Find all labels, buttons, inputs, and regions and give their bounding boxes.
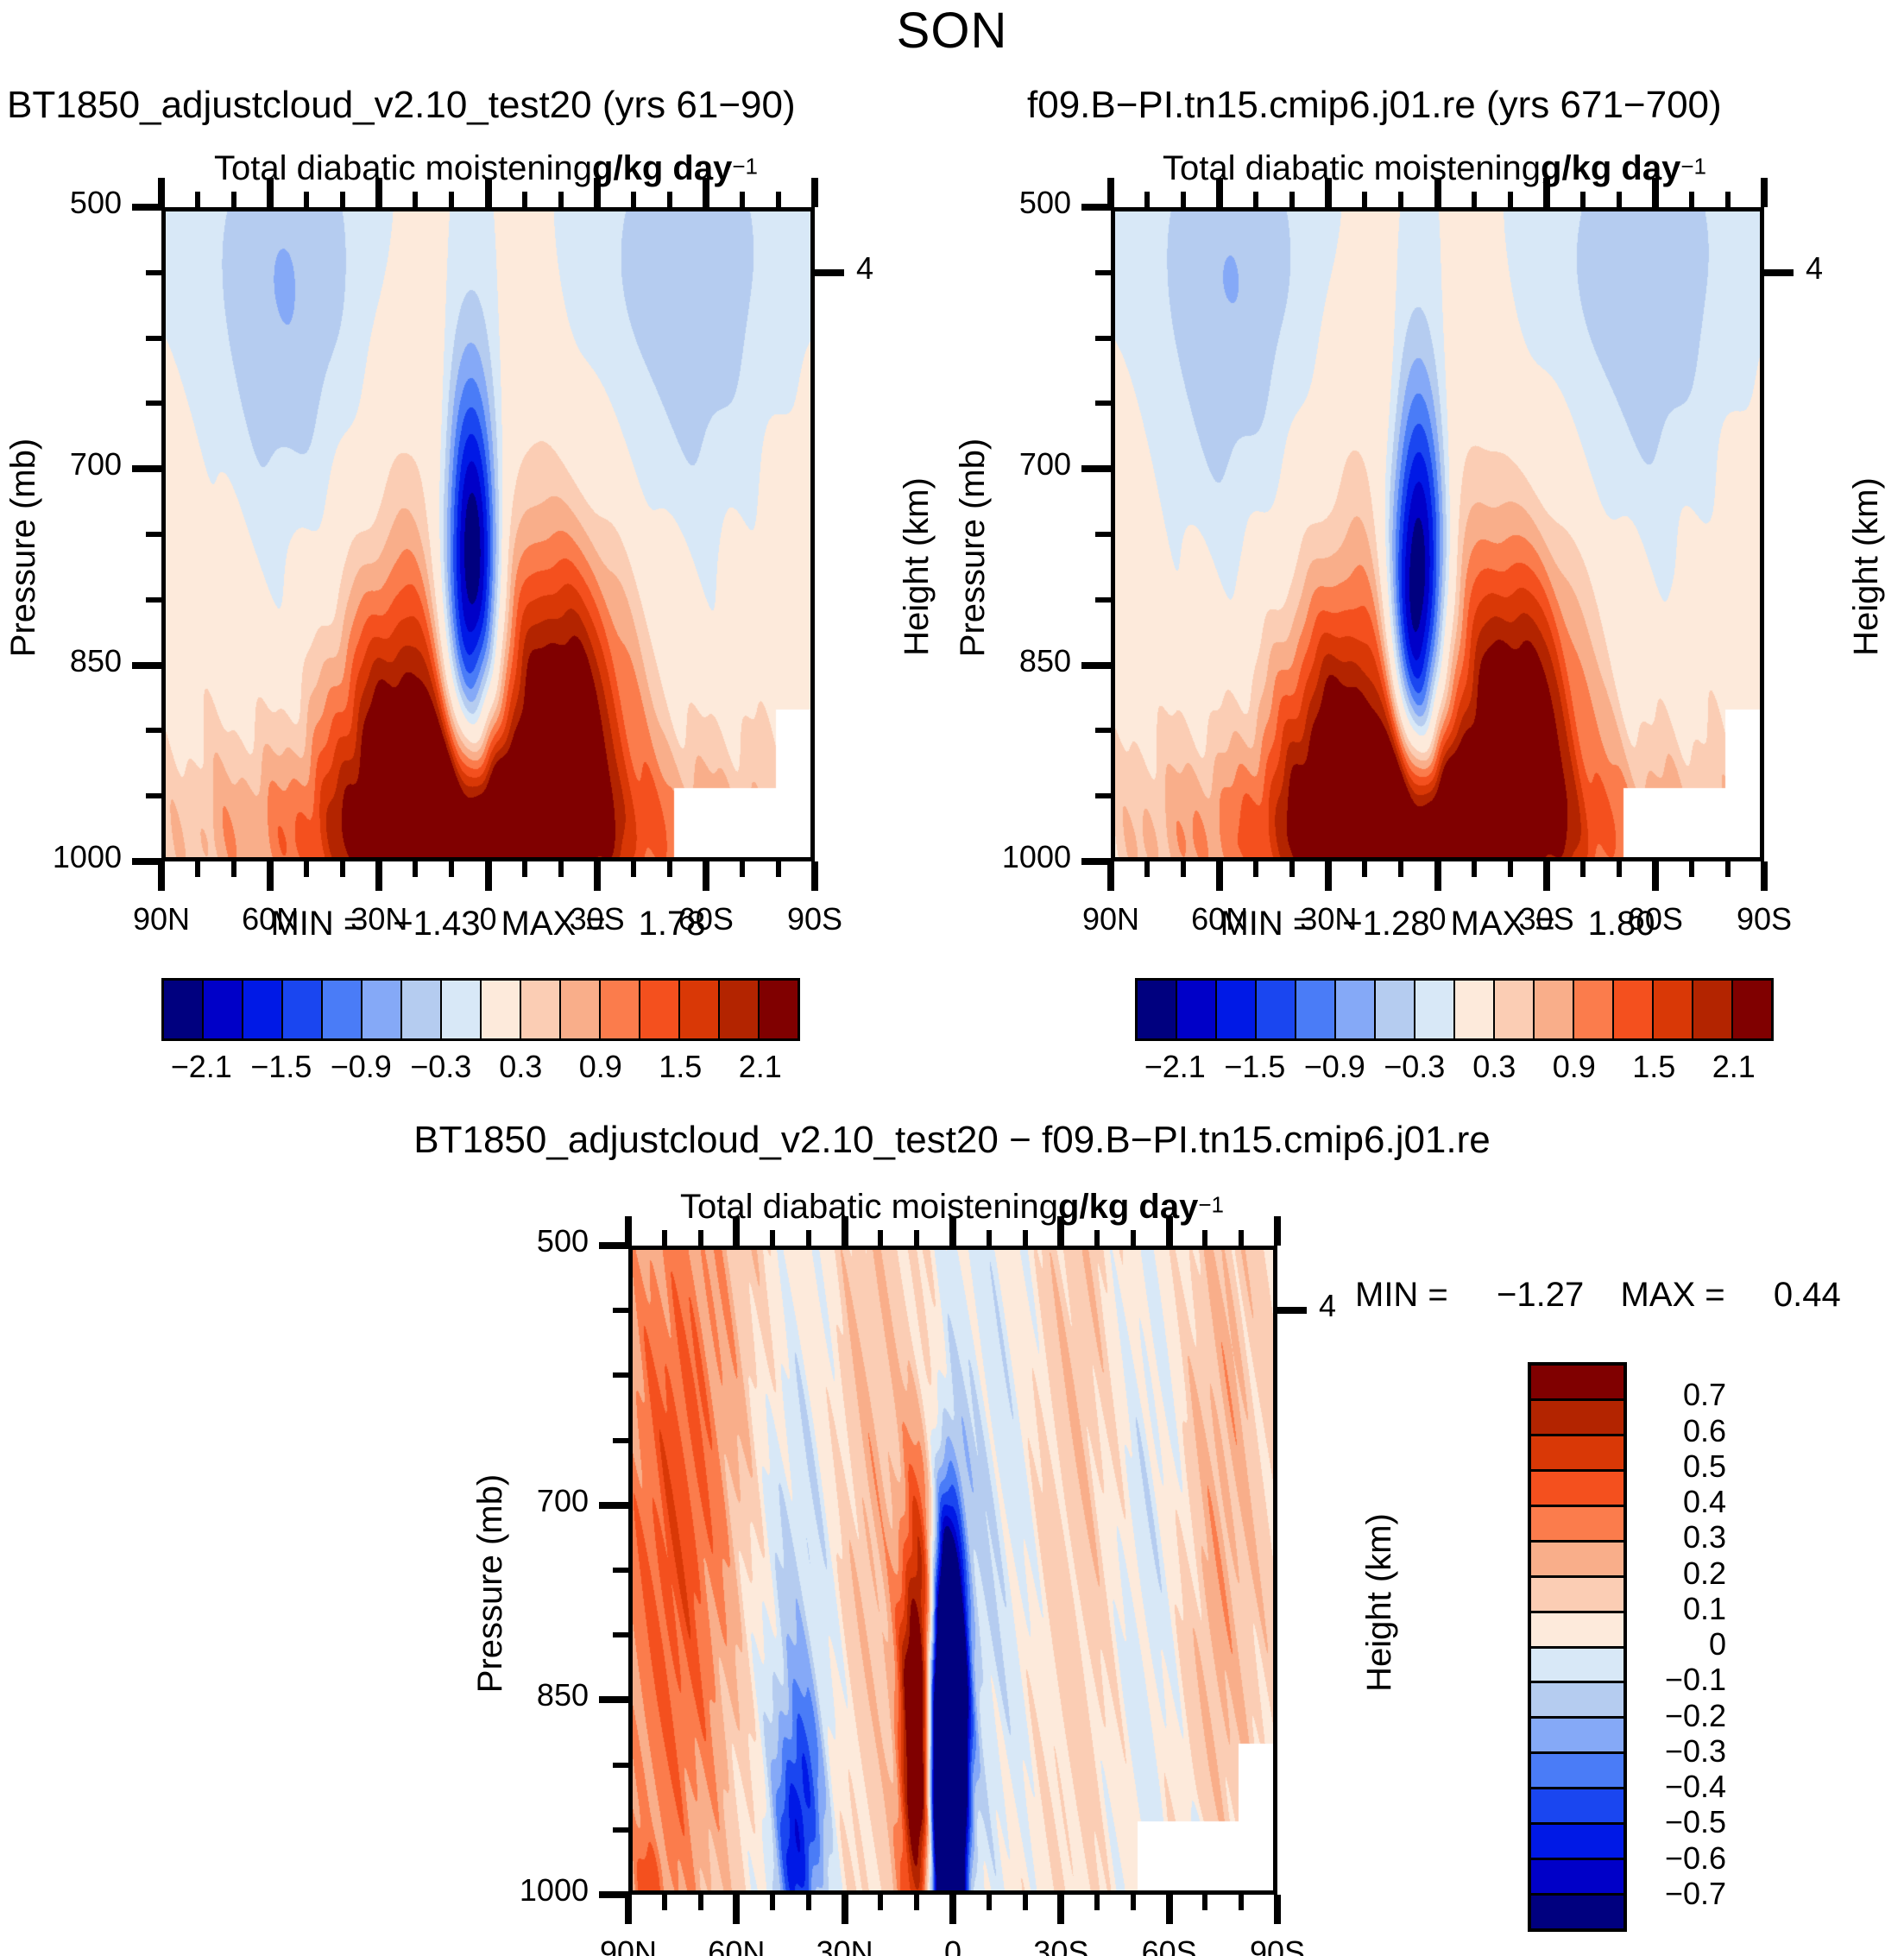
left-x-top-minor-tick [231, 192, 236, 207]
diff-x-major-tick [625, 1895, 632, 1924]
right-x-top-minor-tick [1689, 192, 1694, 207]
colorbar-tick-label: −0.5 [1649, 1804, 1726, 1840]
right-x-top-major-tick [1325, 178, 1332, 207]
left-x-top-minor-tick [631, 192, 636, 207]
left-x-minor-tick [667, 861, 672, 877]
diff-x-major-tick [1274, 1895, 1281, 1924]
colorbar-tick-label: 1.5 [1632, 1049, 1675, 1085]
colorbar-tick-label: 2.1 [739, 1049, 782, 1085]
diff-y-minor-tick [613, 1827, 628, 1833]
left-y-tick-label: 700 [70, 446, 122, 483]
left-x-tick-label: 90S [787, 901, 842, 937]
diff-x-top-major-tick [1166, 1216, 1173, 1246]
right-x-major-tick [1761, 861, 1768, 891]
diff-x-top-minor-tick [1023, 1230, 1028, 1246]
colorbar-tick-label: 0.3 [499, 1049, 542, 1085]
diff-y-tick-label: 500 [537, 1223, 589, 1259]
diff-x-top-major-tick [842, 1216, 848, 1246]
colorbar-segment [1531, 1366, 1623, 1401]
diff-x-top-major-tick [949, 1216, 956, 1246]
colorbar-tick-label: −0.3 [1649, 1733, 1726, 1770]
diff-panel-header: BT1850_adjustcloud_v2.10_test20 − f09.B−… [413, 1119, 1491, 1162]
colorbar-tick-label: −0.1 [1649, 1662, 1726, 1698]
colorbar-segment [1336, 981, 1376, 1038]
colorbar-segment [601, 981, 640, 1038]
right-x-minor-tick [1472, 861, 1477, 877]
right-x-major-tick [1543, 861, 1550, 891]
colorbar-tick-label: −2.1 [1144, 1049, 1206, 1085]
colorbar-tick-label: −1.5 [250, 1049, 312, 1085]
diff-x-major-tick [733, 1895, 740, 1924]
diff-y-tick-label: 1000 [520, 1872, 589, 1909]
left-height-tick-label: 4 [856, 250, 873, 287]
main-title: SON [897, 2, 1008, 60]
left-colorbar [161, 978, 800, 1041]
colorbar-tick-label: 0.5 [1649, 1448, 1726, 1485]
right-y-minor-tick [1095, 793, 1111, 798]
right-units-exponent: −1 [1680, 154, 1706, 180]
diff-x-minor-tick [914, 1895, 919, 1910]
right-x-minor-tick [1253, 861, 1258, 877]
right-x-major-tick [1652, 861, 1659, 891]
left-y-minor-tick [146, 532, 161, 537]
left-panel-header: BT1850_adjustcloud_v2.10_test20 (yrs 61−… [7, 84, 796, 127]
colorbar-segment [640, 981, 680, 1038]
diff-x-minor-tick [987, 1895, 992, 1910]
right-y-tick-label: 700 [1019, 446, 1071, 483]
right-plot-canvas [1115, 211, 1764, 861]
colorbar-segment [1257, 981, 1296, 1038]
colorbar-segment [1138, 981, 1177, 1038]
left-units-exponent: −1 [732, 154, 758, 180]
diff-y-minor-tick [613, 1308, 628, 1313]
left-x-minor-tick [231, 861, 236, 877]
colorbar-tick-label: 1.5 [659, 1049, 702, 1085]
diff-y-minor-tick [613, 1568, 628, 1573]
right-x-top-minor-tick [1289, 192, 1295, 207]
left-x-minor-tick [776, 861, 781, 877]
right-units-text: g/kg day [1541, 149, 1680, 187]
colorbar-tick-label: −0.3 [1384, 1049, 1445, 1085]
right-x-top-minor-tick [1398, 192, 1403, 207]
left-x-minor-tick [740, 861, 745, 877]
diff-x-tick-label: 90S [1250, 1934, 1305, 1956]
colorbar-tick-label: −0.6 [1649, 1840, 1726, 1877]
right-x-top-major-tick [1652, 178, 1659, 207]
right-y-major-tick [1081, 465, 1111, 472]
left-x-top-minor-tick [667, 192, 672, 207]
diff-x-top-minor-tick [662, 1230, 667, 1246]
right-y-tick-label: 850 [1019, 643, 1071, 679]
diff-x-top-minor-tick [1239, 1230, 1244, 1246]
left-x-minor-tick [631, 861, 636, 877]
colorbar-tick-label: −0.3 [410, 1049, 471, 1085]
right-y-tick-label: 500 [1019, 185, 1071, 221]
diff-x-minor-tick [806, 1895, 811, 1910]
left-x-top-minor-tick [522, 192, 527, 207]
left-height-axis-label: Height (km) [897, 478, 936, 657]
diff-x-top-major-tick [625, 1216, 632, 1246]
left-pressure-axis-label: Pressure (mb) [4, 438, 43, 656]
colorbar-tick-label: −2.1 [171, 1049, 232, 1085]
diff-contour-plot [628, 1246, 1277, 1895]
left-x-major-tick [594, 861, 601, 891]
diff-pressure-axis-label: Pressure (mb) [471, 1473, 510, 1692]
left-units-text: g/kg day [592, 149, 732, 187]
diff-x-minor-tick [1202, 1895, 1207, 1910]
left-x-top-minor-tick [340, 192, 345, 207]
colorbar-tick-label: 0.7 [1649, 1377, 1726, 1413]
right-x-minor-tick [1580, 861, 1586, 877]
left-x-top-major-tick [158, 178, 165, 207]
right-x-tick-label: 90N [1082, 901, 1139, 937]
colorbar-segment [1531, 1896, 1623, 1928]
diff-y-tick-label: 700 [537, 1483, 589, 1519]
colorbar-tick-label: −0.9 [331, 1049, 392, 1085]
left-y-tick-label: 850 [70, 643, 122, 679]
colorbar-tick-label: −0.2 [1649, 1698, 1726, 1734]
right-x-top-minor-tick [1617, 192, 1622, 207]
colorbar-tick-label: 2.1 [1712, 1049, 1756, 1085]
diff-x-tick-label: 30S [1033, 1934, 1088, 1956]
right-y-tick-label: 1000 [1002, 839, 1071, 875]
colorbar-tick-label: −0.7 [1649, 1876, 1726, 1912]
left-x-minor-tick [449, 861, 454, 877]
right-x-top-major-tick [1761, 178, 1768, 207]
colorbar-tick-label: −0.9 [1304, 1049, 1365, 1085]
left-y-major-tick [132, 204, 161, 211]
colorbar-segment [243, 981, 283, 1038]
left-x-top-major-tick [375, 178, 382, 207]
diff-x-minor-tick [662, 1895, 667, 1910]
colorbar-segment [204, 981, 243, 1038]
left-y-tick-label: 500 [70, 185, 122, 221]
diff-x-top-minor-tick [914, 1230, 919, 1246]
diff-min-label: MIN = [1355, 1276, 1448, 1314]
diff-y-major-tick [599, 1502, 628, 1509]
right-y-major-tick [1081, 204, 1111, 211]
left-y-minor-tick [146, 793, 161, 798]
diff-y-major-tick [599, 1696, 628, 1703]
left-x-major-tick [703, 861, 709, 891]
colorbar-segment [1531, 1754, 1623, 1789]
right-x-minor-tick [1362, 861, 1367, 877]
colorbar-segment [1614, 981, 1654, 1038]
left-x-top-minor-tick [195, 192, 200, 207]
left-x-minor-tick [558, 861, 564, 877]
right-x-top-minor-tick [1725, 192, 1731, 207]
colorbar-tick-label: 0.4 [1649, 1484, 1726, 1520]
diff-x-top-major-tick [1057, 1216, 1064, 1246]
colorbar-segment [1531, 1578, 1623, 1613]
diff-x-tick-label: 0 [944, 1934, 961, 1956]
diff-y-minor-tick [613, 1372, 628, 1378]
left-y-major-tick [132, 858, 161, 865]
right-pressure-axis-label: Pressure (mb) [954, 438, 993, 656]
colorbar-segment [1693, 981, 1733, 1038]
colorbar-segment [1531, 1401, 1623, 1436]
right-height-tick-label: 4 [1806, 250, 1823, 287]
diff-x-top-major-tick [733, 1216, 740, 1246]
diff-x-top-minor-tick [1094, 1230, 1100, 1246]
colorbar-segment [402, 981, 442, 1038]
left-plot-canvas [166, 211, 815, 861]
colorbar-segment [521, 981, 561, 1038]
colorbar-segment [1531, 1683, 1623, 1719]
right-x-top-minor-tick [1362, 192, 1367, 207]
colorbar-tick-label: −0.4 [1649, 1769, 1726, 1805]
diff-x-minor-tick [770, 1895, 775, 1910]
left-x-major-tick [811, 861, 818, 891]
diff-x-major-tick [949, 1895, 956, 1924]
left-x-minor-tick [195, 861, 200, 877]
diff-x-top-minor-tick [1202, 1230, 1207, 1246]
diff-x-top-minor-tick [770, 1230, 775, 1246]
diff-x-minor-tick [878, 1895, 883, 1910]
diff-x-tick-label: 60S [1142, 1934, 1197, 1956]
colorbar-segment [1531, 1825, 1623, 1860]
right-x-minor-tick [1689, 861, 1694, 877]
left-min-label: MIN = [270, 905, 363, 943]
colorbar-tick-label: 0.3 [1649, 1519, 1726, 1555]
right-min-label: MIN = [1220, 905, 1313, 943]
colorbar-segment [1733, 981, 1771, 1038]
diff-x-tick-label: 90N [600, 1934, 657, 1956]
left-x-top-minor-tick [413, 192, 418, 207]
left-x-major-tick [375, 861, 382, 891]
left-x-top-minor-tick [776, 192, 781, 207]
left-x-minor-tick [413, 861, 418, 877]
colorbar-segment [1495, 981, 1535, 1038]
right-x-tick-label: 90S [1737, 901, 1792, 937]
colorbar-segment [1531, 1543, 1623, 1578]
right-x-top-minor-tick [1144, 192, 1150, 207]
right-y-minor-tick [1095, 401, 1111, 406]
colorbar-tick-label: 0.6 [1649, 1413, 1726, 1449]
diff-x-minor-tick [698, 1895, 703, 1910]
diff-x-top-minor-tick [878, 1230, 883, 1246]
left-x-minor-tick [304, 861, 309, 877]
right-x-top-minor-tick [1181, 192, 1186, 207]
right-x-minor-tick [1725, 861, 1731, 877]
left-x-major-tick [158, 861, 165, 891]
right-min-value: −1.28 [1342, 905, 1429, 943]
colorbar-segment [1531, 1613, 1623, 1649]
right-y-minor-tick [1095, 270, 1111, 275]
left-max-value: 1.78 [639, 905, 706, 943]
left-x-minor-tick [522, 861, 527, 877]
colorbar-tick-label: 0 [1649, 1626, 1726, 1663]
diff-x-tick-label: 60N [708, 1934, 765, 1956]
diff-x-top-minor-tick [806, 1230, 811, 1246]
colorbar-segment [680, 981, 720, 1038]
left-x-major-tick [485, 861, 492, 891]
diff-x-major-tick [842, 1895, 848, 1924]
right-x-minor-tick [1144, 861, 1150, 877]
left-y-major-tick [132, 662, 161, 669]
diff-x-minor-tick [1131, 1895, 1136, 1910]
right-x-top-major-tick [1434, 178, 1441, 207]
colorbar-segment [323, 981, 363, 1038]
right-x-minor-tick [1398, 861, 1403, 877]
left-y-minor-tick [146, 336, 161, 341]
left-x-major-tick [267, 861, 274, 891]
right-x-top-minor-tick [1508, 192, 1513, 207]
colorbar-segment [1217, 981, 1257, 1038]
left-minmax: MIN =−1.43MAX =1.78 [270, 905, 705, 943]
right-x-top-major-tick [1107, 178, 1114, 207]
colorbar-segment [1535, 981, 1574, 1038]
right-y-minor-tick [1095, 728, 1111, 733]
left-x-top-minor-tick [304, 192, 309, 207]
right-y-major-tick [1081, 662, 1111, 669]
diff-x-minor-tick [1239, 1895, 1244, 1910]
diff-x-minor-tick [1023, 1895, 1028, 1910]
colorbar-segment [1296, 981, 1336, 1038]
colorbar-segment [720, 981, 760, 1038]
colorbar-segment [1574, 981, 1614, 1038]
right-max-value: 1.80 [1588, 905, 1655, 943]
diff-min-value: −1.27 [1497, 1276, 1584, 1314]
colorbar-segment [561, 981, 601, 1038]
right-y-major-tick [1081, 858, 1111, 865]
right-x-major-tick [1107, 861, 1114, 891]
left-min-value: −1.43 [393, 905, 480, 943]
right-x-top-minor-tick [1580, 192, 1586, 207]
colorbar-segment [1531, 1719, 1623, 1754]
left-y-minor-tick [146, 270, 161, 275]
diff-y-tick-label: 850 [537, 1677, 589, 1713]
right-x-minor-tick [1181, 861, 1186, 877]
colorbar-segment [283, 981, 323, 1038]
right-max-label: MAX = [1451, 905, 1555, 943]
colorbar-tick-label: −1.5 [1224, 1049, 1285, 1085]
colorbar-tick-label: 0.3 [1472, 1049, 1516, 1085]
right-x-top-minor-tick [1253, 192, 1258, 207]
right-x-minor-tick [1617, 861, 1622, 877]
colorbar-segment [1455, 981, 1495, 1038]
figure-root: SON BT1850_adjustcloud_v2.10_test20 (yrs… [0, 0, 1904, 1956]
right-contour-plot [1111, 207, 1764, 861]
colorbar-segment [1531, 1472, 1623, 1507]
colorbar-tick-label: 0.9 [579, 1049, 622, 1085]
right-minmax: MIN =−1.28MAX =1.80 [1220, 905, 1655, 943]
diff-x-top-minor-tick [1131, 1230, 1136, 1246]
diff-units-text: g/kg day [1058, 1188, 1198, 1226]
left-x-top-major-tick [485, 178, 492, 207]
colorbar-segment [1531, 1436, 1623, 1472]
diff-minmax: MIN = −1.27 MAX = 0.44 [1355, 1276, 1841, 1315]
diff-x-top-major-tick [1274, 1216, 1281, 1246]
colorbar-segment [1415, 981, 1455, 1038]
right-y-minor-tick [1095, 532, 1111, 537]
right-x-major-tick [1434, 861, 1441, 891]
diff-height-axis-label: Height (km) [1359, 1513, 1398, 1692]
right-colorbar [1135, 978, 1774, 1041]
left-x-top-major-tick [267, 178, 274, 207]
left-y-minor-tick [146, 728, 161, 733]
left-contour-plot [161, 207, 815, 861]
colorbar-segment [1531, 1649, 1623, 1684]
diff-x-major-tick [1057, 1895, 1064, 1924]
diff-plot-canvas [633, 1250, 1277, 1895]
colorbar-segment [760, 981, 798, 1038]
left-x-top-minor-tick [740, 192, 745, 207]
colorbar-segment [1531, 1860, 1623, 1896]
colorbar-segment [1531, 1789, 1623, 1825]
right-x-top-minor-tick [1472, 192, 1477, 207]
colorbar-tick-label: 0.9 [1553, 1049, 1596, 1085]
diff-x-minor-tick [1094, 1895, 1100, 1910]
left-x-top-major-tick [811, 178, 818, 207]
right-y-minor-tick [1095, 597, 1111, 603]
right-height-axis-label: Height (km) [1846, 478, 1885, 657]
diff-y-minor-tick [613, 1438, 628, 1443]
diff-height-tick-label: 4 [1319, 1288, 1336, 1324]
colorbar-tick-label: 0.2 [1649, 1555, 1726, 1592]
colorbar-segment [1531, 1507, 1623, 1543]
colorbar-segment [363, 981, 402, 1038]
right-x-minor-tick [1289, 861, 1295, 877]
left-y-major-tick [132, 465, 161, 472]
right-panel-header: f09.B−PI.tn15.cmip6.j01.re (yrs 671−700) [1027, 84, 1722, 127]
right-x-top-major-tick [1543, 178, 1550, 207]
diff-y-minor-tick [613, 1763, 628, 1768]
right-x-major-tick [1325, 861, 1332, 891]
left-y-minor-tick [146, 597, 161, 603]
colorbar-segment [1177, 981, 1217, 1038]
colorbar-tick-label: 0.1 [1649, 1591, 1726, 1627]
right-x-major-tick [1216, 861, 1223, 891]
right-y-minor-tick [1095, 336, 1111, 341]
colorbar-segment [164, 981, 204, 1038]
diff-max-value: 0.44 [1774, 1276, 1841, 1314]
diff-x-tick-label: 30N [816, 1934, 873, 1956]
left-x-tick-label: 90N [133, 901, 190, 937]
left-x-top-minor-tick [449, 192, 454, 207]
left-y-tick-label: 1000 [53, 839, 122, 875]
colorbar-segment [1654, 981, 1693, 1038]
diff-y-major-tick [599, 1891, 628, 1898]
left-y-minor-tick [146, 401, 161, 406]
left-x-top-major-tick [703, 178, 709, 207]
diff-x-top-minor-tick [698, 1230, 703, 1246]
diff-y-major-tick [599, 1242, 628, 1249]
diff-y-minor-tick [613, 1632, 628, 1637]
diff-x-top-minor-tick [987, 1230, 992, 1246]
right-height-tick [1764, 269, 1794, 276]
diff-height-tick [1277, 1307, 1307, 1314]
diff-colorbar [1528, 1362, 1627, 1932]
colorbar-segment [442, 981, 482, 1038]
diff-units-exponent: −1 [1198, 1192, 1224, 1218]
right-x-top-major-tick [1216, 178, 1223, 207]
colorbar-segment [1376, 981, 1415, 1038]
colorbar-segment [482, 981, 521, 1038]
diff-x-major-tick [1166, 1895, 1173, 1924]
right-x-minor-tick [1508, 861, 1513, 877]
left-height-tick [815, 269, 844, 276]
diff-max-label: MAX = [1621, 1276, 1725, 1314]
left-x-minor-tick [340, 861, 345, 877]
left-max-label: MAX = [501, 905, 606, 943]
left-x-top-major-tick [594, 178, 601, 207]
left-x-top-minor-tick [558, 192, 564, 207]
